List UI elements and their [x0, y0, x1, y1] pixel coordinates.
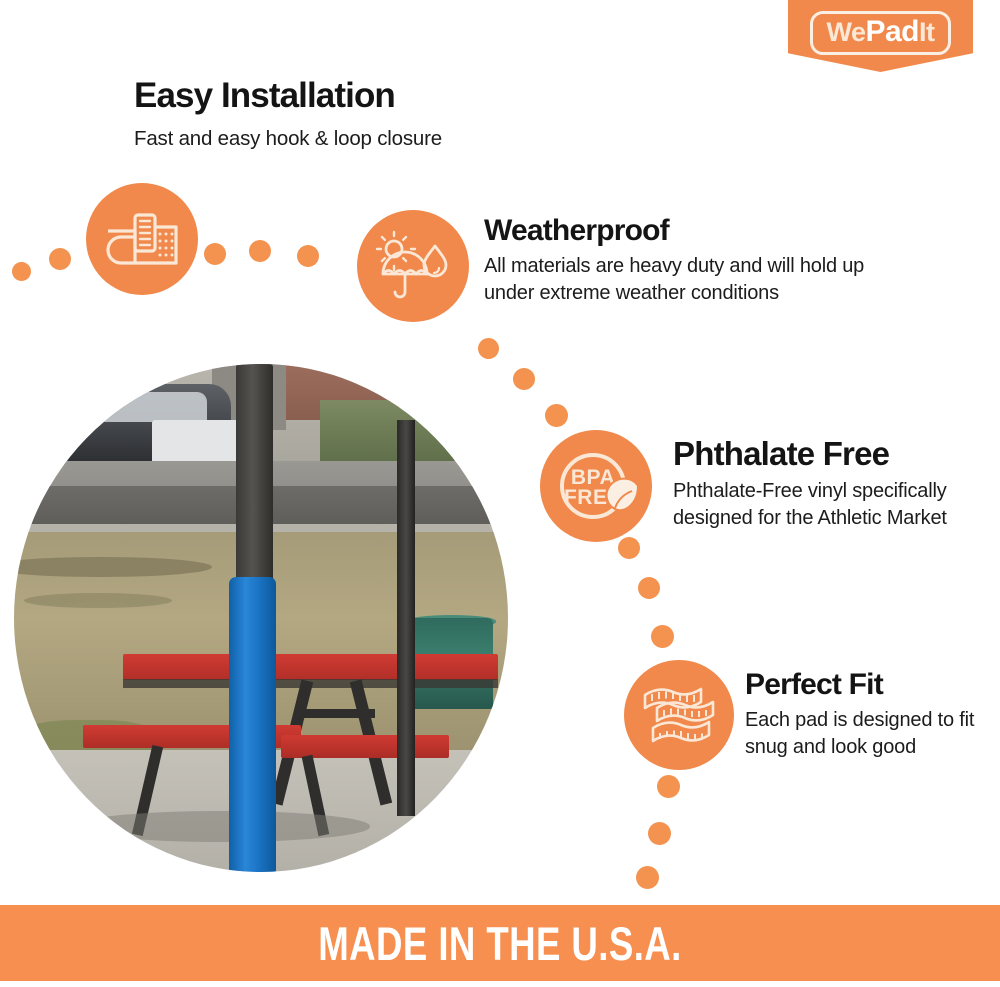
- photo-suv-rear: [152, 420, 246, 466]
- page-subtitle: Fast and easy hook & loop closure: [134, 125, 574, 152]
- trail-dot: [545, 404, 568, 427]
- logo-text-we: We: [826, 19, 865, 46]
- measuring-tape-icon: [624, 660, 734, 770]
- logo-text-it: It: [919, 19, 935, 46]
- logo-banner-shape: We Pad It: [788, 0, 973, 72]
- feature-description: Phthalate-Free vinyl specifically design…: [673, 478, 973, 532]
- logo-text-pad: Pad: [865, 17, 919, 47]
- logo-pill-outline: We Pad It: [810, 11, 950, 55]
- easy-installation-text-block: Easy Installation Fast and easy hook & l…: [134, 76, 574, 152]
- photo-bench-right: [281, 735, 449, 758]
- made-in-usa-text: MADE IN THE U.S.A.: [318, 916, 681, 971]
- trail-dot: [249, 240, 271, 262]
- trail-dot: [513, 368, 535, 390]
- feature-title: Weatherproof: [484, 214, 904, 247]
- product-photo-pole-pad: [14, 364, 508, 872]
- sun-umbrella-raindrop-icon: [357, 210, 469, 322]
- made-in-usa-banner: MADE IN THE U.S.A.: [0, 905, 1000, 981]
- feature-title: Phthalate Free: [673, 436, 973, 472]
- infographic-page: We Pad It Easy Installation Fast and eas…: [0, 0, 1000, 987]
- trail-dot: [636, 866, 659, 889]
- photo-table-crossbar: [296, 709, 375, 717]
- trail-dot: [651, 625, 674, 648]
- photo-ground-shadow: [73, 811, 369, 841]
- trail-dot: [638, 577, 660, 599]
- feature-description: Each pad is designed to fit snug and loo…: [745, 707, 977, 761]
- page-title: Easy Installation: [134, 76, 574, 116]
- feature-title: Perfect Fit: [745, 668, 977, 701]
- trail-dot: [49, 248, 71, 270]
- trail-dot: [618, 537, 640, 559]
- bpa-free-leaf-icon: BPA FREE: [540, 430, 652, 542]
- trail-dot: [648, 822, 671, 845]
- trail-dot: [12, 262, 31, 281]
- trail-dot: [657, 775, 680, 798]
- trail-dot: [297, 245, 319, 267]
- feature-perfect-fit-text: Perfect Fit Each pad is designed to fit …: [745, 668, 977, 761]
- brand-logo: We Pad It: [788, 0, 973, 72]
- photo-suv-window: [83, 392, 207, 422]
- photo-blue-pole-pad: [229, 577, 276, 872]
- trail-dot: [478, 338, 499, 359]
- photo-picnic-table-top: [123, 654, 498, 680]
- feature-description: All materials are heavy duty and will ho…: [484, 253, 904, 307]
- photo-grass-patch: [24, 593, 172, 608]
- hook-loop-strap-icon: [86, 183, 198, 295]
- trail-dot: [204, 243, 226, 265]
- photo-pole-right: [397, 420, 415, 816]
- feature-phthalate-free-text: Phthalate Free Phthalate-Free vinyl spec…: [673, 436, 973, 532]
- feature-weatherproof-text: Weatherproof All materials are heavy dut…: [484, 214, 904, 307]
